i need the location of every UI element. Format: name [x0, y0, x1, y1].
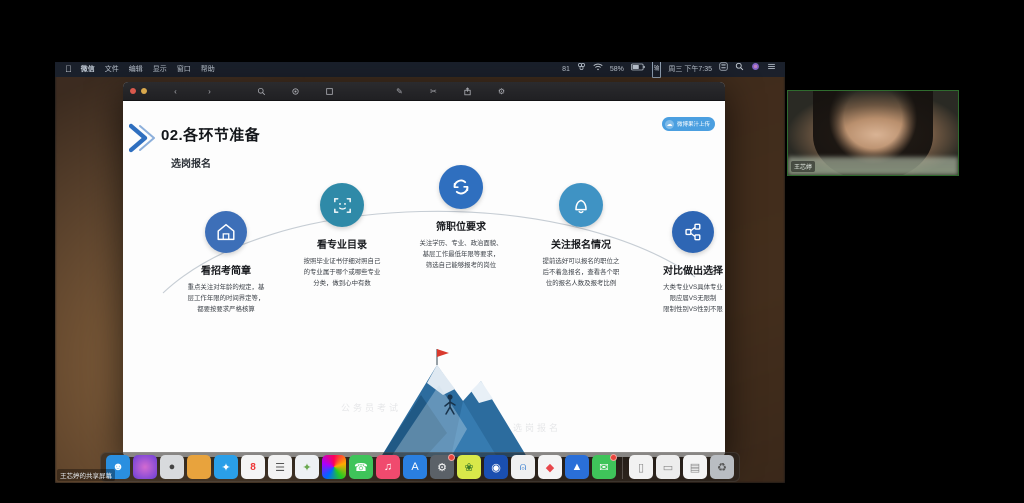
step-body-line: 层工作年限的时间界定等，: [161, 293, 291, 304]
dock-item-contacts[interactable]: ☰: [268, 455, 292, 479]
dock-item-trash[interactable]: ♻: [710, 455, 734, 479]
dock-badge: [448, 454, 455, 461]
status-count: 81: [562, 62, 570, 77]
dock-item-meeting[interactable]: ▲: [565, 455, 589, 479]
menu-item-file[interactable]: 文件: [105, 62, 119, 77]
slide-title: 02.各环节准备: [161, 124, 260, 145]
siri-icon[interactable]: [751, 62, 760, 77]
upload-badge[interactable]: ☁ 微博果汁上传: [662, 117, 715, 131]
step-node-2[interactable]: 看专业目录 按照毕业证书仔细对照自己 的专业属于哪个或哪些专业 分类，做到心中有…: [275, 183, 409, 289]
dock-item-keynote[interactable]: ◆: [538, 455, 562, 479]
presentation-window[interactable]: ‹ › ✎ ✂: [123, 82, 725, 457]
dock-item-wechat-work[interactable]: ⍝: [511, 455, 535, 479]
upload-badge-label: 微博果汁上传: [677, 120, 710, 128]
apple-menu-icon[interactable]: : [65, 62, 72, 77]
participant-name-label: 王芯婷: [791, 161, 815, 172]
menu-item-app[interactable]: 微信: [81, 62, 95, 77]
dock-item-music[interactable]: ♫: [376, 455, 400, 479]
search-icon[interactable]: [735, 62, 744, 77]
dock-item-sourcetree[interactable]: ❀: [457, 455, 481, 479]
window-toolbar[interactable]: ‹ › ✎ ✂: [123, 82, 725, 101]
step-body-line: 限制性别VS性别不限: [628, 304, 725, 315]
step-node-1[interactable]: 看招考简章 重点关注对年龄的规定，基 层工作年限的时间界定等， 都要按要求严格核…: [161, 211, 291, 315]
dock-item-reminders[interactable]: ✦: [295, 455, 319, 479]
input-source-indicator[interactable]: 输: [652, 62, 662, 78]
dock-item-notes[interactable]: [187, 455, 211, 479]
cloud-upload-icon: ☁: [665, 120, 674, 129]
dock-item-file[interactable]: ▤: [683, 455, 707, 479]
dock-item-calendar[interactable]: 8: [241, 455, 265, 479]
step-body-line: 都要按要求严格核算: [161, 304, 291, 315]
battery-icon[interactable]: [631, 62, 645, 77]
dock-badge: [610, 454, 617, 461]
chevron-right-icon: [129, 123, 155, 153]
menu-item-window[interactable]: 窗口: [177, 62, 191, 77]
slide-subtitle: 选岗报名: [171, 155, 211, 170]
slide-canvas[interactable]: 02.各环节准备 选岗报名 ☁ 微博果汁上传 公务员考试 选岗报名: [123, 101, 725, 457]
home-icon: [205, 211, 247, 253]
step-body-line: 筛选自己能够报考的岗位: [395, 260, 527, 271]
mac-menu-bar[interactable]:  微信 文件 编辑 显示 窗口 帮助 81 58% 输 周三 下午7:3: [55, 62, 785, 77]
airdrop-icon[interactable]: [577, 62, 586, 77]
dock-item-safari[interactable]: ✦: [214, 455, 238, 479]
step-body-line: 大类专业VS具体专业: [628, 282, 725, 293]
dock-item-photos[interactable]: [322, 455, 346, 479]
menu-item-view[interactable]: 显示: [153, 62, 167, 77]
list-icon[interactable]: [767, 62, 776, 77]
dock-item-system-settings[interactable]: ⚙: [430, 455, 454, 479]
step-body-line: 分类，做到心中有数: [275, 278, 409, 289]
share-label: 王芯婷的共享屏幕: [57, 469, 115, 481]
back-icon[interactable]: ‹: [170, 86, 181, 97]
share-icon[interactable]: [462, 86, 473, 97]
menu-item-help[interactable]: 帮助: [201, 62, 215, 77]
dock-item-document[interactable]: ▯: [629, 455, 653, 479]
step-heading-3: 筛职位要求: [395, 218, 527, 233]
shared-screen-region:  微信 文件 编辑 显示 窗口 帮助 81 58% 输 周三 下午7:3: [55, 62, 785, 483]
forward-icon[interactable]: ›: [204, 86, 215, 97]
participant-video-tile[interactable]: 王芯婷: [787, 90, 959, 176]
cut-icon[interactable]: ✂: [428, 86, 439, 97]
step-body-line: 的专业属于哪个或哪些专业: [275, 267, 409, 278]
dock-item-facetime[interactable]: ☎: [349, 455, 373, 479]
crop-icon[interactable]: [324, 86, 335, 97]
dock-item-launchpad[interactable]: ●: [160, 455, 184, 479]
share-nodes-icon: [672, 211, 714, 253]
menubar-clock[interactable]: 周三 下午7:35: [668, 62, 712, 77]
menu-item-edit[interactable]: 编辑: [129, 62, 143, 77]
window-close-button[interactable]: [130, 88, 136, 94]
battery-percent: 58%: [610, 62, 624, 77]
screen-recording-frame:  微信 文件 编辑 显示 窗口 帮助 81 58% 输 周三 下午7:3: [0, 0, 1024, 503]
step-body-line: 关注学历、专业、政治面貌、: [395, 238, 527, 249]
step-body-line: 按照毕业证书仔细对照自己: [275, 256, 409, 267]
dock-divider: [622, 457, 623, 479]
step-node-5[interactable]: 对比做出选择 大类专业VS具体专业 限应届VS无限制 限制性别VS性别不限: [628, 211, 725, 315]
step-heading-2: 看专业目录: [275, 236, 409, 251]
refresh-circle-icon: [439, 165, 483, 209]
shapes-icon[interactable]: [290, 86, 301, 97]
control-center-icon[interactable]: [719, 62, 728, 77]
settings-icon[interactable]: ⚙: [496, 86, 507, 97]
pen-icon[interactable]: ✎: [394, 86, 405, 97]
mountain-climber-illustration: [351, 337, 551, 457]
step-body-line: 基层工作最低年限等要求，: [395, 249, 527, 260]
dock-item-wechat[interactable]: ✉: [592, 455, 616, 479]
step-node-3[interactable]: 筛职位要求 关注学历、专业、政治面貌、 基层工作最低年限等要求， 筛选自己能够报…: [395, 165, 527, 271]
face-id-scan-icon: [320, 183, 364, 227]
dock-item-preview[interactable]: ▭: [656, 455, 680, 479]
step-heading-5: 对比做出选择: [628, 262, 725, 277]
dock-item-siri[interactable]: [133, 455, 157, 479]
step-body-line: 限应届VS无限制: [628, 293, 725, 304]
window-minimize-button[interactable]: [141, 88, 147, 94]
step-body-line: 重点关注对年龄的规定，基: [161, 282, 291, 293]
mac-dock[interactable]: ☻ ● ✦ 8 ☰ ✦ ☎ ♫ A ⚙ ❀ ◉ ⍝ ◆ ▲ ✉ ▯ ▭ ▤ ♻: [100, 452, 740, 482]
step-heading-1: 看招考简章: [161, 262, 291, 277]
zoom-icon[interactable]: [256, 86, 267, 97]
wifi-icon[interactable]: [593, 62, 603, 77]
bell-icon: [559, 183, 603, 227]
dock-item-app-store[interactable]: A: [403, 455, 427, 479]
dock-item-browser[interactable]: ◉: [484, 455, 508, 479]
